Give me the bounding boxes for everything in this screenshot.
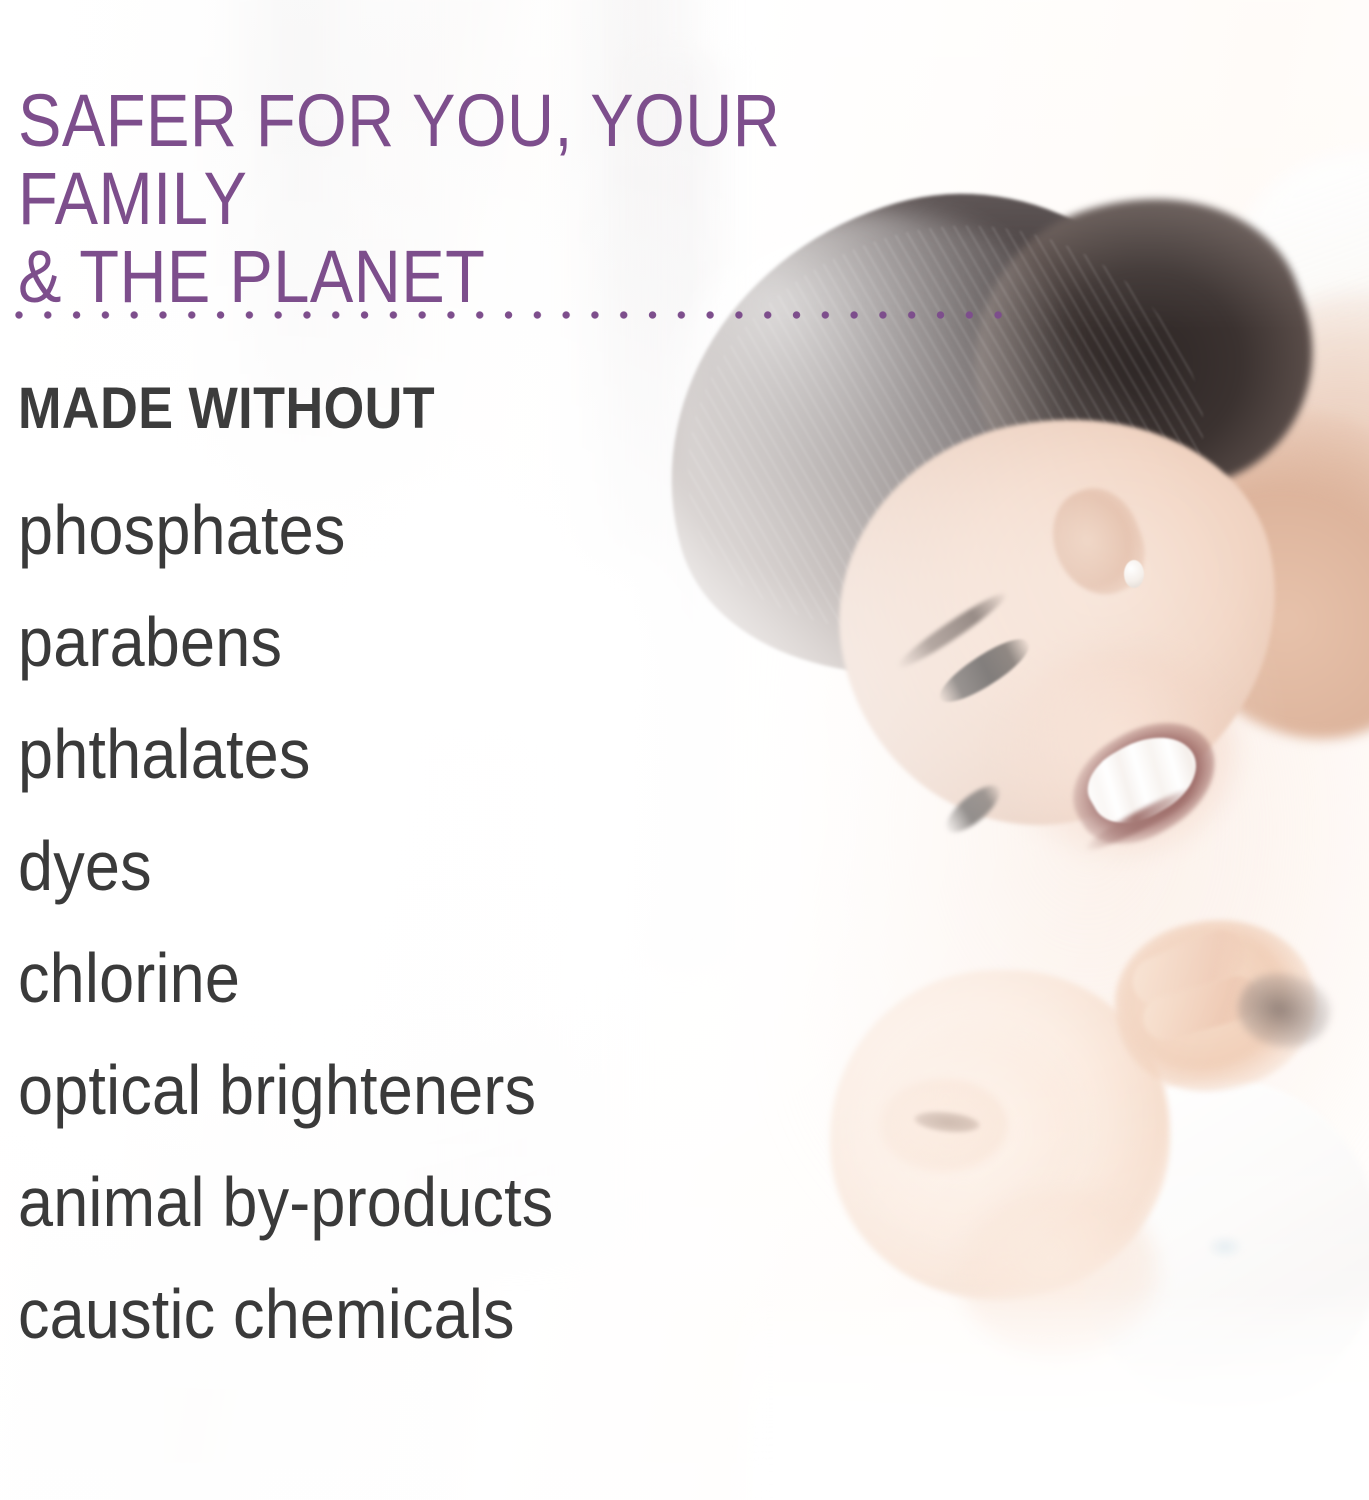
list-item: phosphates [18,474,648,586]
dotted-divider [14,310,1019,320]
list-item: animal by-products [18,1146,648,1258]
list-item: dyes [18,810,648,922]
list-item: chlorine [18,922,648,1034]
page-title: SAFER FOR YOU, YOUR FAMILY & THE PLANET [18,82,951,316]
poster-text-content: SAFER FOR YOU, YOUR FAMILY & THE PLANET … [0,0,1369,1500]
section-heading: MADE WITHOUT [18,378,435,440]
list-item: parabens [18,586,648,698]
list-item: optical brighteners [18,1034,648,1146]
list-item: caustic chemicals [18,1258,648,1370]
list-item: phthalates [18,698,648,810]
product-lifestyle-poster: SAFER FOR YOU, YOUR FAMILY & THE PLANET … [0,0,1369,1500]
excluded-ingredients-list: phosphates parabens phthalates dyes chlo… [18,474,718,1370]
